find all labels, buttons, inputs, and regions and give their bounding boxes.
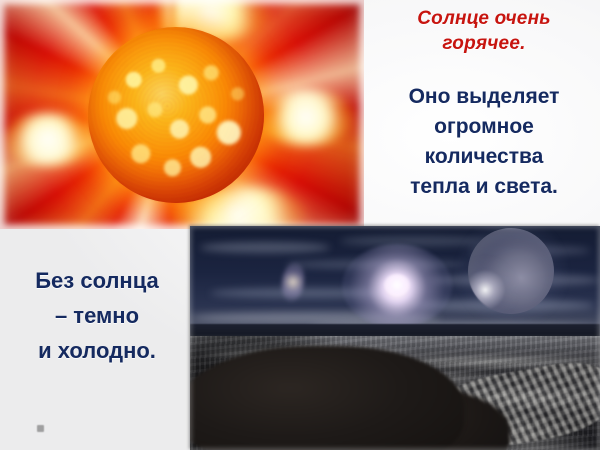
sun-flare-left — [2, 112, 94, 166]
heading-line-1: Солнце очень — [370, 6, 598, 31]
cloud-band — [200, 242, 330, 253]
heading-text: Солнце очень горячее. — [370, 6, 598, 56]
night-landscape-photo — [190, 226, 600, 450]
ground-plain — [190, 336, 600, 450]
body-left-line-1: Без солнца — [6, 263, 188, 298]
body-right-line-3: количества — [368, 142, 600, 172]
body-left-line-2: – темно — [6, 298, 188, 333]
bullet-dot-marker — [37, 425, 44, 432]
body-left-line-3: и холодно. — [6, 333, 188, 368]
distant-star-core — [384, 274, 410, 296]
slide-canvas: Солнце очень горячее. Оно выделяет огром… — [0, 0, 600, 450]
body-text-right: Оно выделяет огромное количества тепла и… — [368, 82, 600, 202]
sun-disc — [88, 27, 264, 203]
foreground-mound — [190, 346, 464, 450]
sun-flare-right — [258, 88, 354, 146]
body-right-line-4: тепла и света. — [368, 172, 600, 202]
body-right-line-1: Оно выделяет — [368, 82, 600, 112]
sun-granulation — [88, 27, 264, 203]
planet-crescent-highlight — [468, 228, 554, 314]
body-text-left: Без солнца – темно и холодно. — [6, 263, 188, 368]
heading-line-2: горячее. — [370, 31, 598, 56]
body-right-line-2: огромное — [368, 112, 600, 142]
sun-photo — [0, 0, 364, 229]
